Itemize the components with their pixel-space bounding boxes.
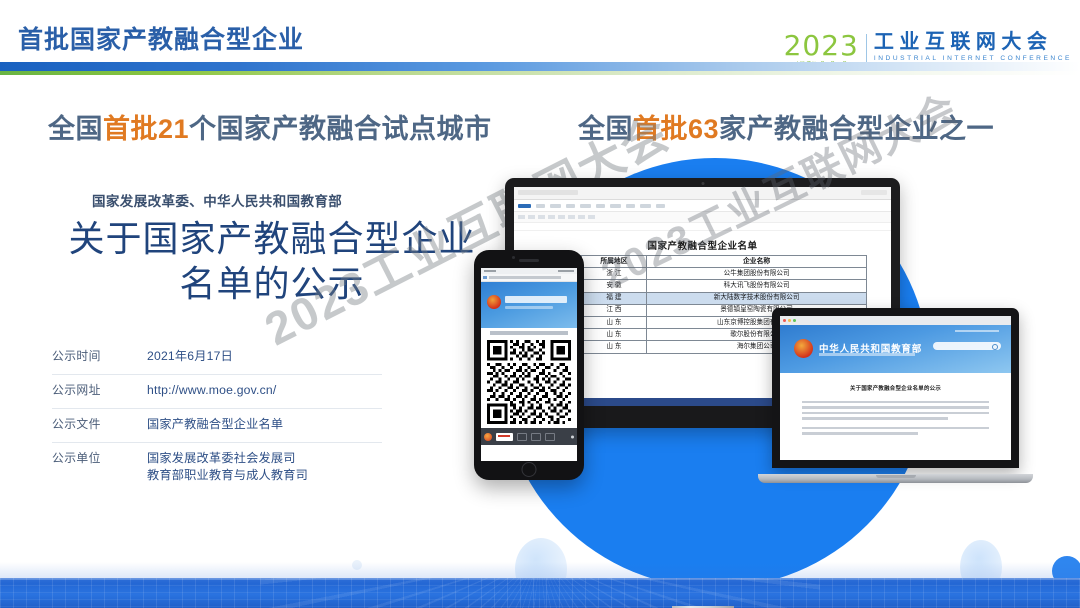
cell-region: 浙 江: [581, 268, 647, 280]
article-paragraph: [802, 427, 989, 435]
toolbar-icon[interactable]: [531, 433, 541, 441]
minimize-icon[interactable]: [788, 319, 791, 322]
toolbar-button[interactable]: [538, 215, 545, 219]
browser-chrome: [780, 316, 1011, 325]
detail-value-line1: 国家发展改革委社会发展司: [147, 450, 308, 467]
mobile-site-subtitle: [505, 306, 553, 309]
header-rule-blue: [0, 62, 1080, 71]
slide-footer: [0, 578, 1080, 608]
macbook-lid: 中华人民共和国教育部 关于国家产教融合型企业名单的公示: [772, 308, 1019, 468]
qr-code-icon: [487, 340, 571, 424]
list-item: 公示单位 国家发展改革委社会发展司 教育部职业教育与成人教育司: [52, 443, 382, 493]
cell-region: 福 建: [581, 292, 647, 304]
logo-year: 2023: [784, 32, 859, 60]
detail-value: 2021年6月17日: [147, 348, 233, 365]
ribbon-tab[interactable]: [610, 204, 621, 208]
headline-left: 全国首批21个国家产教融合试点城市: [48, 107, 492, 146]
national-emblem-icon: [794, 339, 813, 358]
text-line: [802, 427, 989, 429]
lock-icon: [483, 276, 487, 279]
home-button-icon[interactable]: [522, 462, 537, 477]
page-title: 首批国家产教融合型企业: [18, 20, 304, 56]
cell-region: 江 西: [581, 304, 647, 316]
macbook-mockup: 中华人民共和国教育部 关于国家产教融合型企业名单的公示: [758, 308, 1033, 483]
headline-right-suffix: 家产教融合型企业之一: [719, 114, 994, 144]
text-line: [802, 406, 989, 408]
document-agency: 国家发展改革委、中华人民共和国教育部: [92, 190, 342, 210]
cell-company: 新大陆数字技术股份有限公司: [647, 292, 867, 304]
cell-company: 公牛集团股份有限公司: [647, 268, 867, 280]
headline-left-suffix: 个国家产教融合试点城市: [189, 114, 492, 144]
spreadsheet-ribbon: [514, 200, 891, 212]
avatar[interactable]: [484, 433, 492, 441]
cell-region: 山 东: [581, 341, 647, 353]
toolbar-button[interactable]: [528, 215, 535, 219]
ribbon-tab[interactable]: [566, 204, 575, 208]
detail-value: 国家发展改革委社会发展司 教育部职业教育与成人教育司: [147, 450, 308, 484]
table-caption: 国家产教融合型企业名单: [538, 238, 867, 252]
slide-header: 首批国家产教融合型企业 2023 中国·苏州 8月14日-15日 工业互联网大会…: [0, 0, 1080, 60]
headline-right-prefix: 全国: [578, 114, 633, 144]
footer-glow: [0, 562, 1080, 578]
iphone-speaker-icon: [519, 259, 539, 262]
table-row-selected[interactable]: 41 福 建 新大陆数字技术股份有限公司: [539, 292, 867, 304]
qr-code-panel: [481, 338, 577, 428]
cell-region: 山 东: [581, 316, 647, 328]
document-detail-list: 公示时间 2021年6月17日 公示网址 http://www.moe.gov.…: [52, 341, 382, 493]
toolbar-button[interactable]: [568, 215, 575, 219]
imac-camera-icon: [701, 182, 704, 185]
detail-key: 公示文件: [52, 416, 147, 433]
detail-key: 公示时间: [52, 348, 147, 365]
text-line: [802, 432, 918, 434]
maximize-icon[interactable]: [793, 319, 796, 322]
headline-right: 全国首批63家产教融合型企业之一: [578, 107, 994, 146]
mobile-address-bar[interactable]: [481, 274, 577, 282]
iphone-screen: [481, 268, 577, 461]
text-line: [802, 401, 989, 403]
ribbon-tab[interactable]: [550, 204, 561, 208]
url-text: [489, 276, 561, 279]
site-banner: 中华人民共和国教育部: [780, 325, 1011, 373]
detail-key: 公示单位: [52, 450, 147, 467]
document-title: 关于国家产教融合型企业名单的公示: [62, 216, 482, 306]
detail-value-url[interactable]: http://www.moe.gov.cn/: [147, 382, 277, 399]
ribbon-tab-active[interactable]: [518, 204, 531, 208]
mobile-bottom-toolbar: [481, 428, 577, 445]
more-icon[interactable]: [571, 435, 574, 438]
status-icons: [558, 270, 574, 273]
iphone-mockup: [474, 250, 584, 480]
headline-left-prefix: 全国: [48, 114, 103, 144]
mobile-article-headline: [481, 328, 577, 338]
toolbar-icon[interactable]: [545, 433, 555, 441]
ribbon-tab[interactable]: [626, 204, 635, 208]
spreadsheet-toolbar: [514, 212, 891, 223]
national-emblem-icon: [487, 295, 501, 309]
list-item: 公示文件 国家产教融合型企业名单: [52, 409, 382, 443]
toolbar-icon[interactable]: [517, 433, 527, 441]
article-body: 关于国家产教融合型企业名单的公示: [780, 373, 1011, 435]
detail-key: 公示网址: [52, 382, 147, 399]
macbook-notch: [876, 475, 916, 478]
detail-value: 国家产教融合型企业名单: [147, 416, 283, 433]
text-line: [802, 412, 989, 414]
article-title: 关于国家产教融合型企业名单的公示: [802, 384, 989, 392]
iphone-body: [474, 250, 584, 480]
headline-bar: [490, 331, 568, 334]
headline-left-highlight: 首批21: [103, 114, 189, 144]
headline-right-highlight: 首批63: [633, 114, 719, 144]
ribbon-tab[interactable]: [596, 204, 605, 208]
spreadsheet-titlebar: [514, 187, 891, 200]
cell-region: 安 徽: [581, 280, 647, 292]
toolbar-button[interactable]: [548, 215, 555, 219]
list-item: 公示时间 2021年6月17日: [52, 341, 382, 375]
table-header-row: 序号 所属地区 企业名称: [539, 256, 867, 268]
ribbon-tab[interactable]: [580, 204, 591, 208]
list-item: 公示网址 http://www.moe.gov.cn/: [52, 375, 382, 409]
toolbar-button[interactable]: [578, 215, 585, 219]
header-rule-green: [0, 71, 1080, 75]
ribbon-tab[interactable]: [640, 204, 651, 208]
detail-value-line2: 教育部职业教育与成人教育司: [147, 467, 308, 484]
share-card-icon[interactable]: [496, 433, 513, 441]
site-nav[interactable]: [955, 330, 999, 332]
table-row[interactable]: 40 安 徽 科大讯飞股份有限公司: [539, 280, 867, 292]
iphone-camera-icon: [512, 256, 515, 259]
slide-root: 首批国家产教融合型企业 2023 中国·苏州 8月14日-15日 工业互联网大会…: [0, 0, 1080, 608]
document-ruler: [514, 223, 891, 231]
logo-name-cn: 工业互联网大会: [874, 32, 1072, 53]
ribbon-tab[interactable]: [536, 204, 545, 208]
macbook-screen: 中华人民共和国教育部 关于国家产教融合型企业名单的公示: [780, 316, 1011, 460]
toolbar-button[interactable]: [588, 215, 595, 219]
mobile-site-title: [505, 296, 567, 303]
article-paragraph: [802, 401, 989, 420]
toolbar-button[interactable]: [558, 215, 565, 219]
site-subtitle: [819, 353, 915, 356]
cell-region: 山 东: [581, 329, 647, 341]
footer-perspective-lines: [260, 578, 820, 608]
toolbar-button[interactable]: [518, 215, 525, 219]
cell-company: 科大讯飞股份有限公司: [647, 280, 867, 292]
status-time: [484, 270, 496, 273]
table-row[interactable]: 39 浙 江 公牛集团股份有限公司: [539, 268, 867, 280]
column-header-region: 所属地区: [581, 256, 647, 268]
close-icon[interactable]: [783, 319, 786, 322]
text-line: [802, 417, 948, 419]
column-header-company: 企业名称: [647, 256, 867, 268]
search-input[interactable]: [933, 342, 1001, 350]
mobile-site-banner: [481, 282, 577, 328]
ribbon-tab[interactable]: [656, 204, 665, 208]
